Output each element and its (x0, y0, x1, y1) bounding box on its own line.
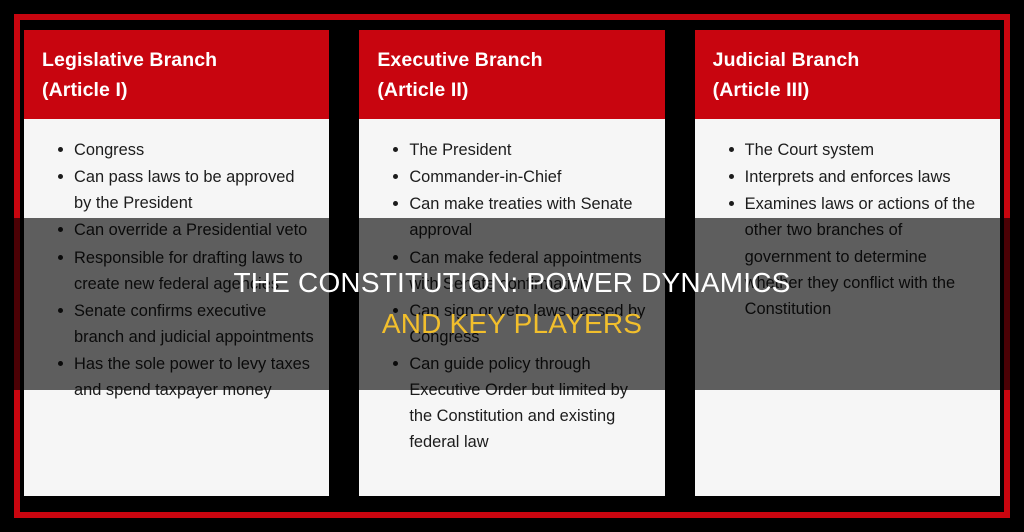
branch-points-legislative: Congress Can pass laws to be approved by… (30, 137, 315, 403)
branch-article-judicial: (Article III) (713, 76, 982, 106)
branch-card-executive: Executive Branch (Article II) The Presid… (359, 30, 664, 496)
list-item: Commander-in-Chief (393, 164, 650, 190)
list-item: Can pass laws to be approved by the Pres… (58, 164, 315, 216)
branch-body-executive: The President Commander-in-Chief Can mak… (359, 119, 664, 496)
branch-article-executive: (Article II) (377, 76, 646, 106)
list-item: Can sign or veto laws passed by Congress (393, 298, 650, 350)
branch-header-legislative: Legislative Branch (Article I) (24, 30, 329, 119)
branch-header-executive: Executive Branch (Article II) (359, 30, 664, 119)
slide-stage: Legislative Branch (Article I) Congress … (0, 0, 1024, 532)
branch-points-judicial: The Court system Interprets and enforces… (701, 137, 986, 322)
list-item: Can override a Presidential veto (58, 217, 315, 243)
list-item: Can make treaties with Senate approval (393, 191, 650, 243)
list-item: Senate confirms executive branch and jud… (58, 298, 315, 350)
branch-title-executive: Executive Branch (377, 46, 646, 76)
list-item: Interprets and enforces laws (729, 164, 986, 190)
branches-board: Legislative Branch (Article I) Congress … (24, 30, 1000, 496)
list-item: Can make federal appointments with Senat… (393, 245, 650, 297)
branch-header-judicial: Judicial Branch (Article III) (695, 30, 1000, 119)
list-item: Examines laws or actions of the other tw… (729, 191, 986, 321)
branch-article-legislative: (Article I) (42, 76, 311, 106)
list-item: Can guide policy through Executive Order… (393, 351, 650, 455)
branch-title-legislative: Legislative Branch (42, 46, 311, 76)
list-item: Has the sole power to levy taxes and spe… (58, 351, 315, 403)
branch-points-executive: The President Commander-in-Chief Can mak… (365, 137, 650, 455)
list-item: The Court system (729, 137, 986, 163)
list-item: The President (393, 137, 650, 163)
branch-body-legislative: Congress Can pass laws to be approved by… (24, 119, 329, 496)
list-item: Responsible for drafting laws to create … (58, 245, 315, 297)
list-item: Congress (58, 137, 315, 163)
branch-body-judicial: The Court system Interprets and enforces… (695, 119, 1000, 496)
branch-title-judicial: Judicial Branch (713, 46, 982, 76)
branch-card-legislative: Legislative Branch (Article I) Congress … (24, 30, 329, 496)
branch-card-judicial: Judicial Branch (Article III) The Court … (695, 30, 1000, 496)
